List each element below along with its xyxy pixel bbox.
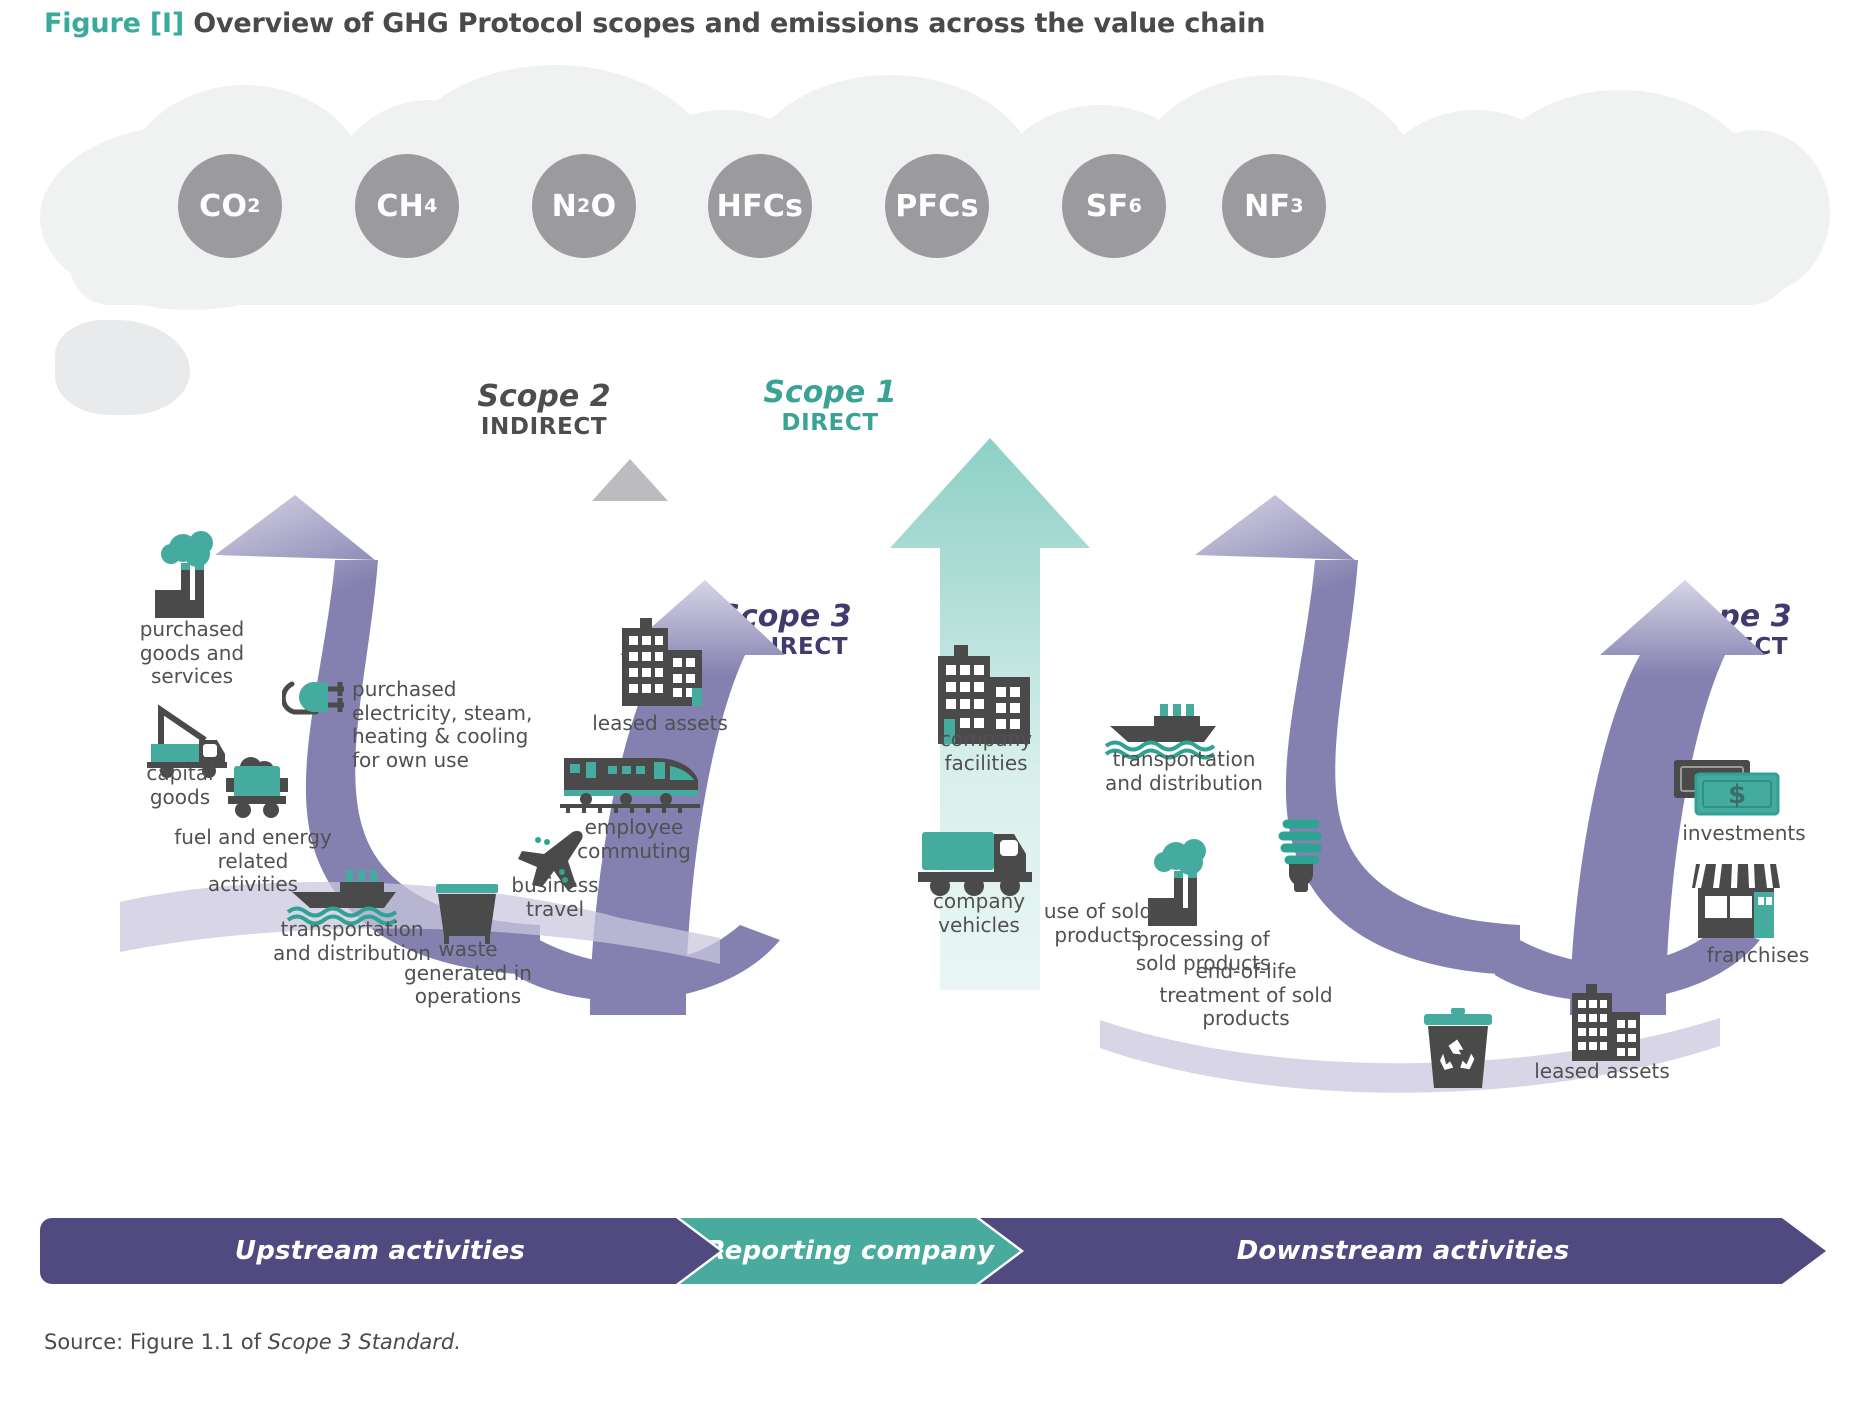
figure-tag: Figure [I] [44, 8, 184, 39]
banner-reporting[interactable]: Reporting company [680, 1218, 1020, 1284]
scope-2-kind: INDIRECT [384, 413, 704, 442]
gas-badge-hfcs: HFCs [708, 154, 812, 258]
storefront-icon [1690, 862, 1782, 940]
factory-icon [155, 530, 235, 620]
downstream-buildings-icon [1560, 984, 1644, 1062]
scope-1-label: Scope 1 DIRECT [670, 377, 990, 438]
source-prefix: Source: Figure 1.1 of [44, 1330, 268, 1354]
figure-title-text: Overview of GHG Protocol scopes and emis… [193, 8, 1265, 39]
label-downstream-transport: transportation and distribution [1098, 748, 1270, 795]
gas-badge-co2: CO2 [178, 154, 282, 258]
label-purchased-goods: purchased goods and services [128, 618, 256, 689]
scope-2-label: Scope 2 INDIRECT [384, 381, 704, 442]
coal-wagon-icon [218, 748, 298, 824]
label-end-of-life: end-of-life treatment of sold products [1156, 960, 1336, 1031]
value-chain-banner: Upstream activities Reporting company Do… [40, 1218, 1826, 1284]
source-note: Source: Figure 1.1 of Scope 3 Standard. [44, 1330, 461, 1354]
banner-downstream[interactable]: Downstream activities [980, 1218, 1826, 1284]
label-company-vehicles: company vehicles [912, 890, 1046, 937]
banknote-icon: $ [1672, 758, 1782, 820]
page-title: Figure [I] Overview of GHG Protocol scop… [44, 8, 1265, 39]
cloud-wisp [55, 320, 190, 415]
banner-upstream[interactable]: Upstream activities [40, 1218, 720, 1284]
label-purchased-electricity: purchased electricity, steam, heating & … [352, 678, 562, 772]
source-italic: Scope 3 Standard. [268, 1330, 461, 1354]
label-investments: investments [1672, 822, 1816, 846]
recycle-bin-icon [1418, 1008, 1498, 1094]
buildings-icon [608, 618, 704, 708]
label-waste: waste generated in operations [395, 938, 541, 1009]
label-company-facilities: company facilities [918, 728, 1054, 775]
label-business-travel: business travel [500, 874, 610, 921]
label-downstream-leased-assets: leased assets [1528, 1060, 1676, 1084]
gas-badge-nf3: NF3 [1222, 154, 1326, 258]
scope-2-name: Scope 2 [384, 381, 704, 413]
company-truck-icon [918, 828, 1036, 896]
gas-badge-pfcs: PFCs [885, 154, 989, 258]
label-use-of-sold-products: use of sold products [1028, 900, 1168, 947]
label-franchises: franchises [1688, 944, 1828, 968]
gas-badge-sf6: SF6 [1062, 154, 1166, 258]
scope-1-name: Scope 1 [670, 377, 990, 409]
label-upstream-leased-assets: leased assets [590, 712, 730, 736]
gas-badge-n2o: N2O [532, 154, 636, 258]
power-plug-icon [282, 672, 350, 722]
train-icon [560, 752, 700, 814]
light-bulb-icon [1265, 812, 1337, 898]
label-employee-commuting: employee commuting [560, 816, 708, 863]
gas-badge-ch4: CH4 [355, 154, 459, 258]
money-symbol: $ [1728, 780, 1746, 810]
